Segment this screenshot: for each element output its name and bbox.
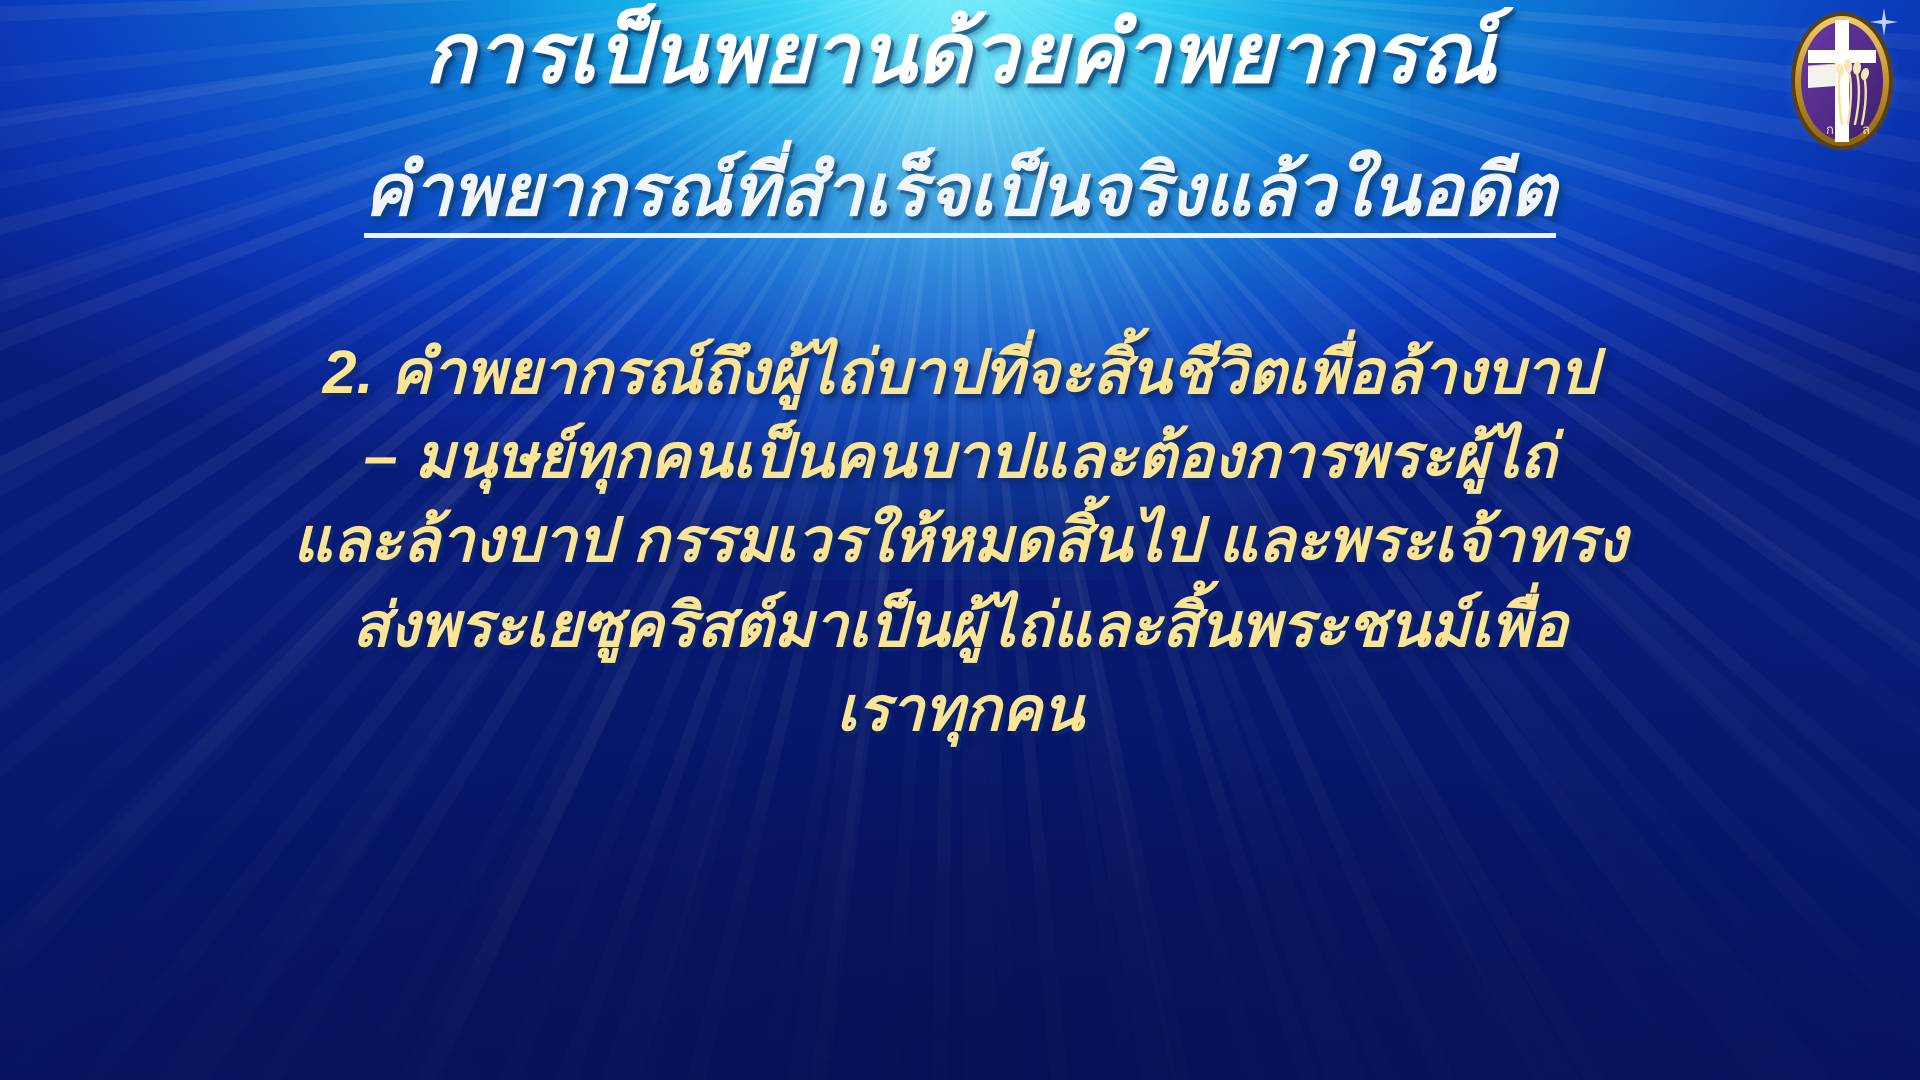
body-line: เราทุกคน	[60, 667, 1860, 751]
slide-body: 2. คำพยากรณ์ถึงผู้ไถ่บาปที่จะสิ้นชีวิตเพ…	[60, 330, 1860, 751]
body-line: 2. คำพยากรณ์ถึงผู้ไถ่บาปที่จะสิ้นชีวิตเพ…	[60, 330, 1860, 414]
slide-subtitle: คำพยากรณ์ที่สำเร็จเป็นจริงแล้วในอดีต	[0, 150, 1920, 233]
presentation-slide: ก ล การเป็นพยานด้วยคำพยากรณ์ คำพยากรณ์ที…	[0, 0, 1920, 1080]
body-line: และล้างบาป กรรมเวรให้หมดสิ้นไป และพระเจ้…	[60, 498, 1860, 582]
slide-title: การเป็นพยานด้วยคำพยากรณ์	[0, 6, 1920, 100]
slide-subtitle-text: คำพยากรณ์ที่สำเร็จเป็นจริงแล้วในอดีต	[364, 151, 1557, 238]
body-line: – มนุษย์ทุกคนเป็นคนบาปและต้องการพระผู้ไถ…	[60, 414, 1860, 498]
logo-letter-left: ก	[1826, 122, 1834, 137]
logo-letter-right: ล	[1862, 122, 1870, 137]
body-line: ส่งพระเยซูคริสต์มาเป็นผู้ไถ่และสิ้นพระชน…	[60, 583, 1860, 667]
